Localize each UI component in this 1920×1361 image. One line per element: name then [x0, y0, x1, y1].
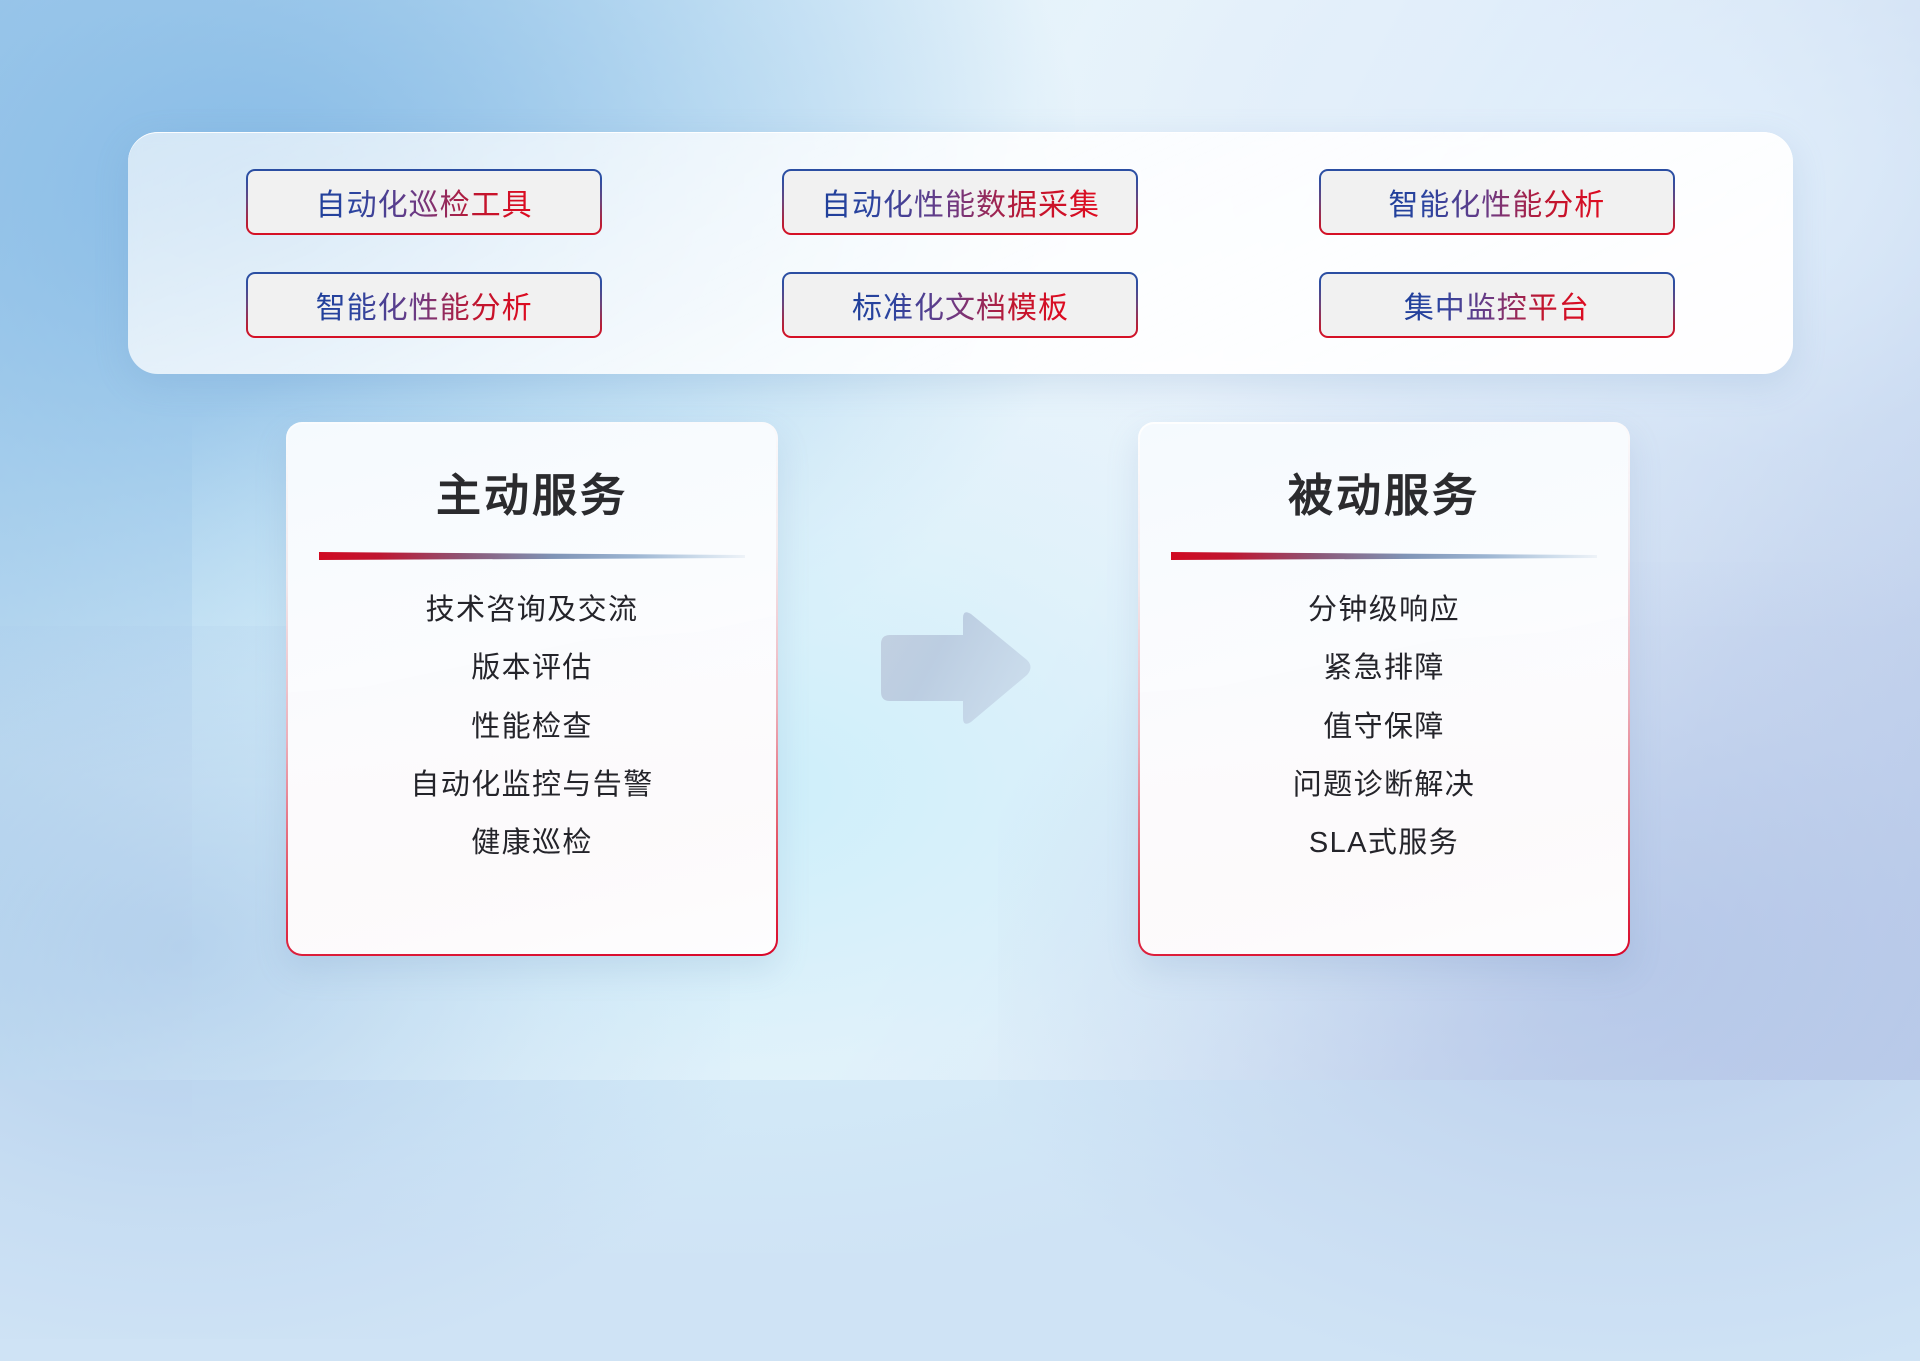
service-card-proactive-divider [319, 550, 745, 562]
capability-pill-6-label: 集中监控平台 [1404, 283, 1590, 327]
service-card-proactive-list: 技术咨询及交流 版本评估 性能检查 自动化监控与告警 健康巡检 [288, 592, 776, 861]
capability-pill-5-label: 标准化文档模板 [852, 283, 1069, 327]
list-item: SLA式服务 [1309, 825, 1459, 861]
capability-pill-6[interactable]: 集中监控平台 [1319, 272, 1675, 338]
arrow-right-icon [875, 608, 1035, 728]
capability-pill-5[interactable]: 标准化文档模板 [782, 272, 1138, 338]
capability-pill-1-label: 自动化巡检工具 [316, 180, 533, 224]
list-item: 版本评估 [471, 650, 593, 686]
capability-pill-6-inner: 集中监控平台 [1321, 274, 1673, 336]
list-item: 紧急排障 [1323, 650, 1445, 686]
list-item: 值守保障 [1323, 709, 1445, 745]
list-item: 问题诊断解决 [1293, 767, 1475, 803]
capability-panel: 自动化巡检工具 自动化性能数据采集 智能化性能分析 智能化性能分析 [128, 132, 1793, 374]
service-card-reactive-list: 分钟级响应 紧急排障 值守保障 问题诊断解决 SLA式服务 [1140, 592, 1628, 861]
service-card-reactive-title: 被动服务 [1140, 459, 1628, 524]
list-item: 技术咨询及交流 [426, 592, 639, 628]
list-item: 分钟级响应 [1308, 592, 1460, 628]
capability-pill-3-inner: 智能化性能分析 [1321, 171, 1673, 233]
service-card-reactive-body: 被动服务 [1140, 424, 1628, 954]
service-card-reactive[interactable]: 被动服务 [1138, 422, 1630, 956]
capability-pill-1-inner: 自动化巡检工具 [248, 171, 600, 233]
service-card-reactive-divider [1171, 550, 1597, 562]
capability-pill-2-label: 自动化性能数据采集 [821, 180, 1100, 224]
list-item: 自动化监控与告警 [410, 767, 653, 803]
capability-grid: 自动化巡检工具 自动化性能数据采集 智能化性能分析 智能化性能分析 [128, 132, 1793, 374]
capability-pill-4[interactable]: 智能化性能分析 [246, 272, 602, 338]
capability-pill-4-label: 智能化性能分析 [316, 283, 533, 327]
diagram-stage: 自动化巡检工具 自动化性能数据采集 智能化性能分析 智能化性能分析 [0, 0, 1920, 1080]
list-item: 健康巡检 [471, 825, 593, 861]
service-card-proactive-title: 主动服务 [288, 459, 776, 524]
list-item: 性能检查 [471, 709, 593, 745]
capability-pill-2[interactable]: 自动化性能数据采集 [782, 169, 1138, 235]
capability-pill-1[interactable]: 自动化巡检工具 [246, 169, 602, 235]
capability-pill-4-inner: 智能化性能分析 [248, 274, 600, 336]
capability-pill-3-label: 智能化性能分析 [1388, 180, 1605, 224]
service-card-proactive[interactable]: 主动服务 [286, 422, 778, 956]
capability-pill-3[interactable]: 智能化性能分析 [1319, 169, 1675, 235]
capability-pill-2-inner: 自动化性能数据采集 [784, 171, 1136, 233]
service-card-proactive-body: 主动服务 [288, 424, 776, 954]
capability-pill-5-inner: 标准化文档模板 [784, 274, 1136, 336]
